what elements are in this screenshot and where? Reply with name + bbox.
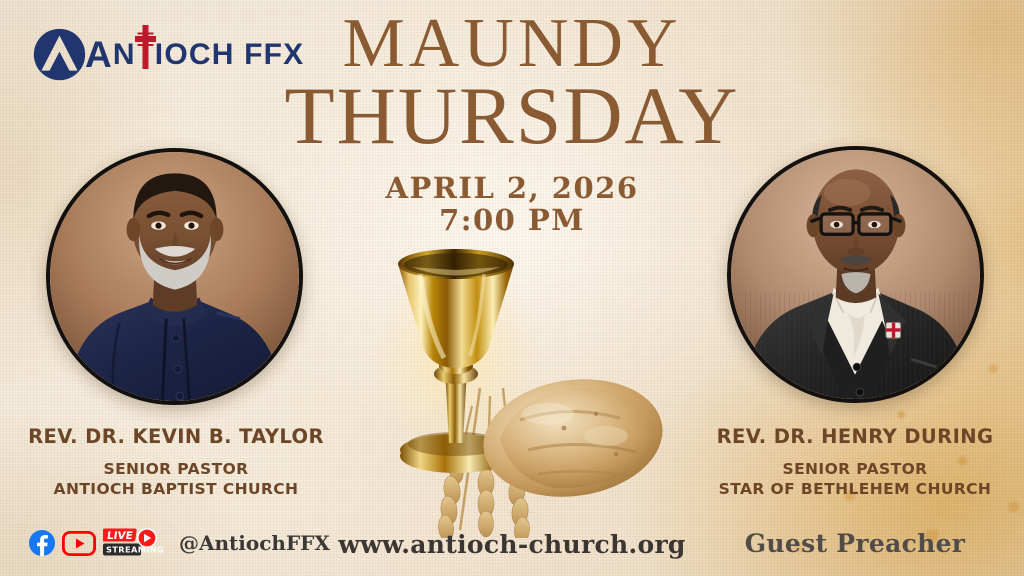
communion-artwork-svg bbox=[368, 238, 670, 538]
chalice-bread-wheat-communion-icon bbox=[368, 238, 670, 538]
wordmark-suffix: IOCH FFX bbox=[155, 40, 305, 70]
antioch-ffx-wordmark: ANIOCH FFX bbox=[85, 36, 304, 73]
portrait-henry-during bbox=[727, 146, 984, 403]
guest-preacher-label: Guest Preacher bbox=[690, 529, 1020, 558]
wordmark-letter-a: A bbox=[85, 36, 113, 73]
speaker-caption-right: REV. DR. HENRY DURING SENIOR PASTOR STAR… bbox=[690, 426, 1020, 500]
speaker-role: SENIOR PASTOR bbox=[690, 460, 1020, 480]
speaker-role: SENIOR PASTOR bbox=[11, 460, 341, 480]
speaker-name: REV. DR. HENRY DURING bbox=[690, 426, 1020, 447]
speaker-church: STAR OF BETHLEHEM CHURCH bbox=[690, 480, 1020, 500]
cross-icon bbox=[136, 37, 155, 73]
cross-icon-glyph bbox=[135, 25, 156, 69]
antioch-ffx-logo[interactable]: ANIOCH FFX bbox=[31, 26, 304, 83]
lapel-pin-icon bbox=[886, 322, 901, 338]
portrait-henry-during-image bbox=[731, 150, 980, 399]
speaker-caption-left: REV. DR. KEVIN B. TAYLOR SENIOR PASTOR A… bbox=[11, 426, 341, 500]
maundy-thursday-flyer: ANIOCH FFX MAUNDY THURSDAY APRIL 2, 2026… bbox=[0, 0, 1024, 576]
title-line-2: THURSDAY bbox=[0, 78, 1024, 153]
wordmark-letter-n: N bbox=[113, 40, 136, 70]
speaker-church: ANTIOCH BAPTIST CHURCH bbox=[11, 480, 341, 500]
portrait-kevin-b-taylor bbox=[46, 148, 303, 405]
portrait-kevin-b-taylor-image bbox=[50, 152, 299, 401]
speaker-name: REV. DR. KEVIN B. TAYLOR bbox=[11, 426, 341, 447]
antioch-peak-circle-logo-icon bbox=[31, 26, 88, 83]
